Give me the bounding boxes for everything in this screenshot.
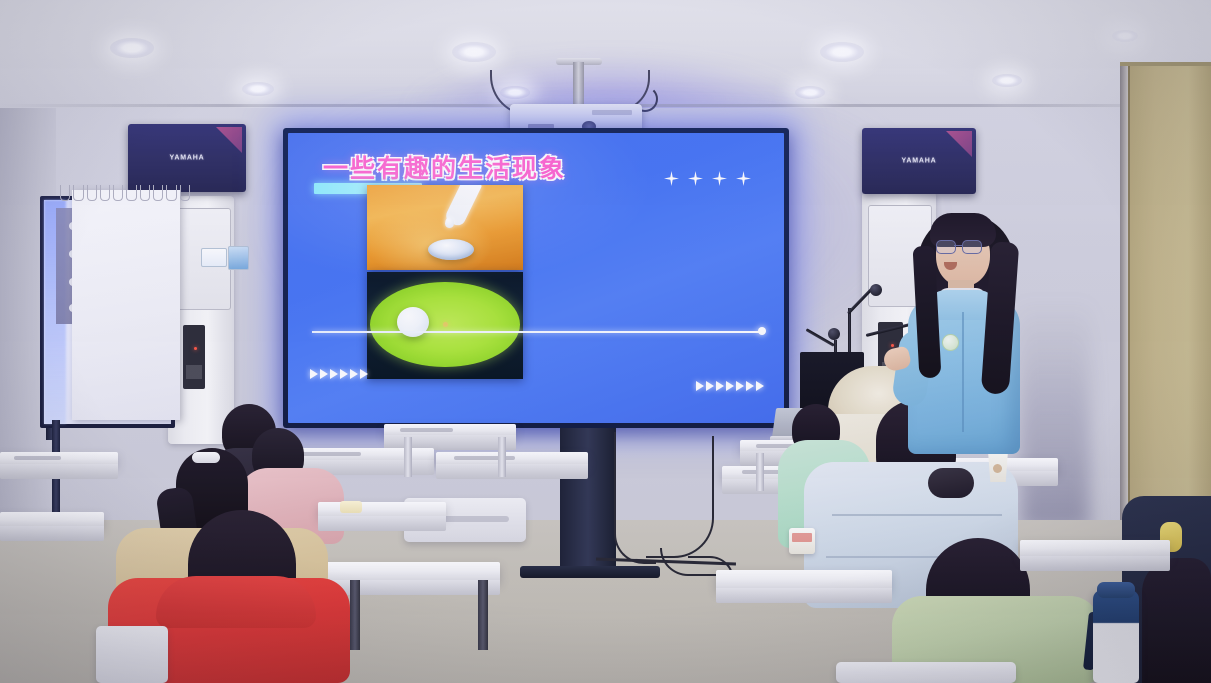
chevron-right-icon xyxy=(320,369,328,379)
slide-canvas: 一些有趣的生活现象 xyxy=(288,133,784,423)
sparkle-icon xyxy=(688,171,703,186)
presenter-badge xyxy=(942,334,959,351)
ac-power-led xyxy=(194,347,197,350)
yamaha-speaker-right: YAMAHA xyxy=(862,128,976,194)
ceiling-light xyxy=(242,82,274,96)
sparkle-icon xyxy=(736,171,751,186)
desk-leg xyxy=(498,437,506,477)
yamaha-speaker-left: YAMAHA xyxy=(128,124,246,192)
flipchart-clip xyxy=(73,185,83,201)
slide-chevrons-left xyxy=(310,369,368,379)
chevron-right-icon xyxy=(746,381,754,391)
desk-leg xyxy=(404,437,412,477)
projector-label xyxy=(592,110,632,115)
ac-power-led xyxy=(891,344,894,347)
chevron-right-icon xyxy=(706,381,714,391)
slide-title: 一些有趣的生活现象 xyxy=(323,149,566,185)
flipchart-clip xyxy=(180,185,190,201)
ceiling-light xyxy=(820,42,864,62)
chevron-right-icon xyxy=(330,369,338,379)
flipchart-clip xyxy=(166,185,176,201)
slide-timeline-line xyxy=(312,331,762,333)
desk-leg xyxy=(478,580,488,650)
chevron-right-icon xyxy=(310,369,318,379)
ac-info-sticker xyxy=(228,246,249,270)
flipchart-clip xyxy=(126,185,136,201)
water-bottle-cap[interactable] xyxy=(1097,582,1135,598)
presenter-jacket-zipper xyxy=(962,312,964,432)
chair-backrest xyxy=(836,662,1016,683)
desk-front-panel xyxy=(716,588,892,603)
screen-stand-column xyxy=(560,428,616,568)
chevron-right-icon xyxy=(736,381,744,391)
chevron-right-icon xyxy=(350,369,358,379)
wall-shadow xyxy=(1020,300,1090,530)
sparkle-icon xyxy=(712,171,727,186)
ac-warning-sticker xyxy=(201,248,227,267)
glasses-icon xyxy=(936,240,980,253)
chevron-right-icon xyxy=(726,381,734,391)
droplet-icon xyxy=(445,217,454,228)
classroom-photo: YAMAHA YAMAHA xyxy=(0,0,1211,683)
flipchart-clip xyxy=(87,185,97,201)
flipchart-clip-row xyxy=(60,185,190,201)
student-desk xyxy=(0,452,118,466)
chevron-right-icon xyxy=(340,369,348,379)
paper-cup-logo xyxy=(993,464,1002,473)
chevron-right-icon xyxy=(360,369,368,379)
flipchart-clip xyxy=(153,185,163,201)
desk-leg xyxy=(756,453,764,491)
speaker-brand-label: YAMAHA xyxy=(170,155,205,162)
desk-slot xyxy=(14,456,61,460)
flipchart-paper xyxy=(72,190,180,420)
ac-keypad[interactable] xyxy=(186,365,202,379)
slide-timeline-endpoint xyxy=(758,327,766,335)
student-hair xyxy=(1142,558,1211,683)
desk-slot xyxy=(300,452,361,456)
ceiling-light xyxy=(795,86,825,99)
glasses-bridge xyxy=(954,245,962,246)
speaker-pennant xyxy=(216,127,242,153)
chair-backrest xyxy=(96,626,168,683)
glasses-lens-left xyxy=(936,240,956,254)
desk-front-panel xyxy=(0,464,118,479)
hoodie-hood xyxy=(156,576,316,628)
desk-front-panel xyxy=(0,526,104,541)
flipchart-clip xyxy=(140,185,150,201)
flipchart-clip xyxy=(60,185,70,201)
student-desk xyxy=(1020,540,1170,558)
student-desk xyxy=(716,570,892,590)
ac-control-panel[interactable] xyxy=(183,325,205,389)
chevron-right-icon xyxy=(696,381,704,391)
ceiling-light xyxy=(1112,30,1138,42)
chevron-right-icon xyxy=(716,381,724,391)
ceiling-light xyxy=(992,74,1022,87)
ceiling-light xyxy=(452,42,496,62)
slide-photo-dropper xyxy=(367,185,523,270)
glasses-lens-right xyxy=(962,240,982,254)
speaker-brand-label: YAMAHA xyxy=(902,158,937,165)
tissue-on-desk xyxy=(340,501,362,513)
speaker-pennant xyxy=(946,131,972,157)
flipchart-clip xyxy=(113,185,123,201)
room-door[interactable] xyxy=(1128,66,1211,536)
chevron-right-icon xyxy=(756,381,764,391)
desk-slot xyxy=(400,428,453,432)
small-cup-label xyxy=(792,533,812,542)
glove xyxy=(928,468,974,498)
desk-front-panel xyxy=(1020,556,1170,571)
floor-cable xyxy=(646,436,714,558)
student-desk xyxy=(0,512,104,528)
student-desk xyxy=(384,424,516,437)
mic-capsule xyxy=(870,284,882,296)
student-desk xyxy=(324,562,500,582)
desk-front-panel xyxy=(436,464,588,479)
slide-photo-lotus-leaf xyxy=(367,272,523,379)
student-desk xyxy=(318,502,446,518)
slide-sparkle-group xyxy=(664,171,751,186)
screen-stand-base xyxy=(520,566,660,578)
flipchart-clip xyxy=(100,185,110,201)
hair-tie xyxy=(192,452,220,463)
led-display-screen[interactable]: 一些有趣的生活现象 xyxy=(283,128,789,428)
slide-chevrons-right xyxy=(696,381,764,391)
liquid-bead xyxy=(428,239,474,260)
ceiling-light xyxy=(110,38,154,58)
desk-leg xyxy=(350,580,360,650)
desk-front-panel xyxy=(318,516,446,531)
water-bottle[interactable] xyxy=(1093,590,1139,683)
puffer-seam xyxy=(832,514,1002,516)
student-desk xyxy=(436,452,588,466)
sparkle-icon xyxy=(664,171,679,186)
mic-capsule xyxy=(828,328,840,340)
